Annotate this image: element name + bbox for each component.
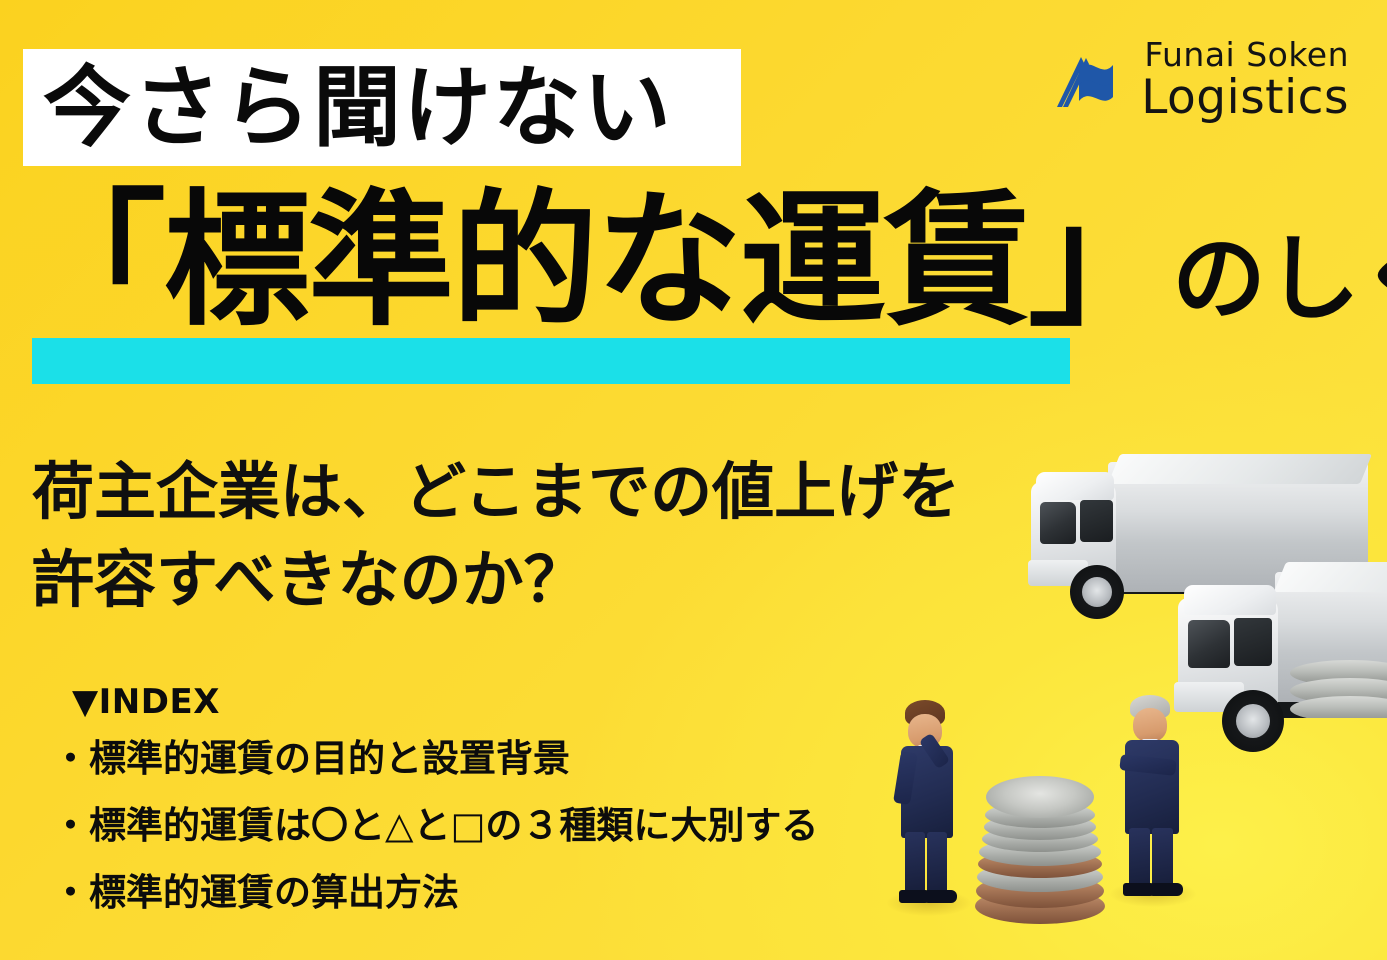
- logo-line-2: Logistics: [1141, 74, 1349, 121]
- logo-wordmark: Funai Soken Logistics: [1141, 38, 1349, 121]
- index-item-2: ・標準的運賃は〇と△と□の３種類に大別する: [52, 807, 818, 844]
- page-title: 「標準的な運賃」 のしくみ: [20, 184, 1387, 339]
- index-item-1: ・標準的運賃の目的と設置背景: [52, 740, 818, 777]
- title-main-text: 「標準的な運賃」: [20, 184, 1172, 339]
- title-suffix-text: のしくみ: [1172, 233, 1387, 339]
- subtitle-line-1: 荷主企業は、どこまでの値上げを: [32, 448, 1012, 536]
- index-item-3: ・標準的運賃の算出方法: [52, 874, 818, 911]
- subtitle-line-2: 許容すべきなのか？: [32, 536, 1012, 624]
- funai-soken-wave-mark-icon: [1053, 49, 1127, 111]
- kicker-text: 今さら聞けない: [23, 64, 673, 152]
- kicker-white-block: 今さら聞けない: [23, 49, 741, 166]
- text-layer: 今さら聞けない 「標準的な運賃」 のしくみ 荷主企業は、どこまでの値上げを 許容…: [0, 0, 1387, 960]
- logo-line-1: Funai Soken: [1144, 38, 1349, 71]
- index-heading: ▼INDEX: [72, 682, 818, 722]
- subtitle: 荷主企業は、どこまでの値上げを 許容すべきなのか？: [32, 448, 1012, 624]
- slide-canvas: 今さら聞けない 「標準的な運賃」 のしくみ 荷主企業は、どこまでの値上げを 許容…: [0, 0, 1387, 960]
- brand-logo: Funai Soken Logistics: [1053, 38, 1349, 121]
- index-block: ▼INDEX ・標準的運賃の目的と設置背景 ・標準的運賃は〇と△と□の３種類に大…: [72, 682, 818, 941]
